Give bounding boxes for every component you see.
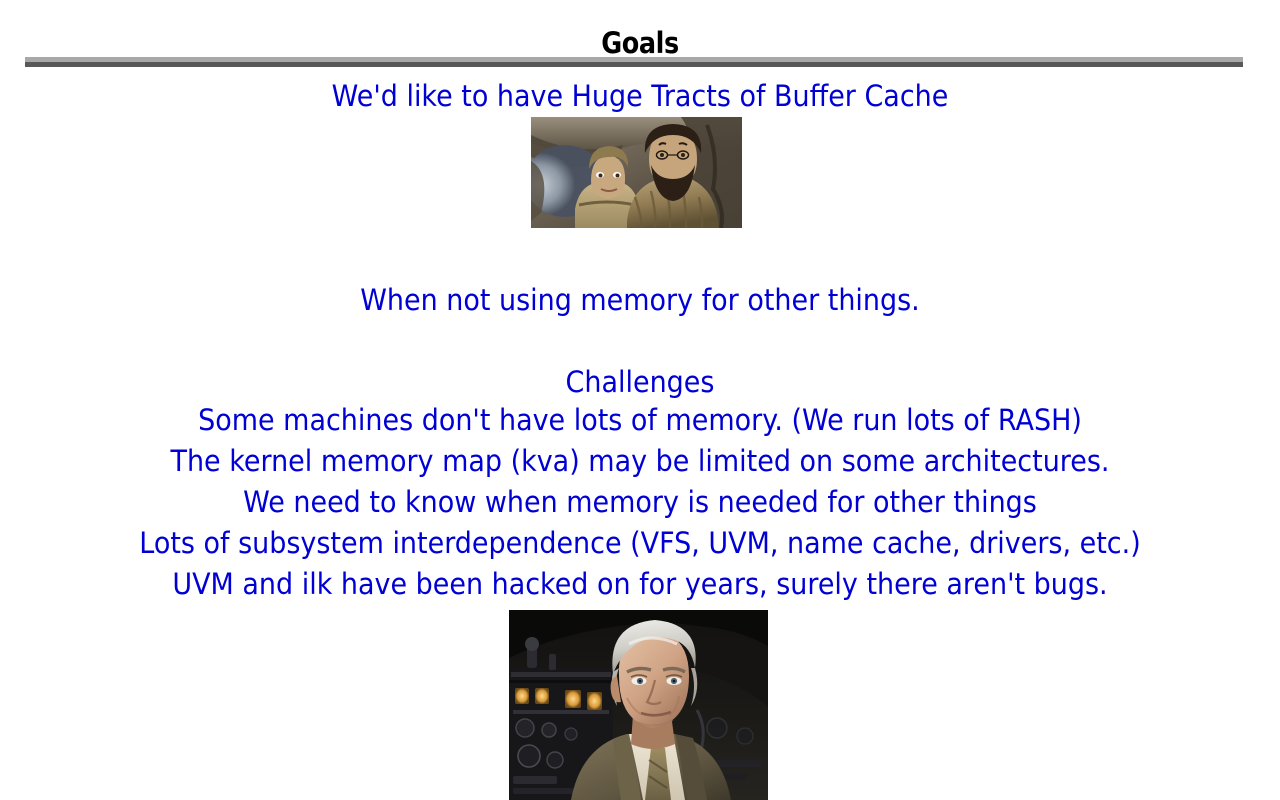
- divider-dark-band: [25, 62, 1243, 67]
- when-condition-statement: When not using memory for other things.: [45, 283, 1235, 317]
- challenge-item: Lots of subsystem interdependence (VFS, …: [45, 526, 1235, 560]
- challenges-heading: Challenges: [45, 365, 1235, 399]
- airplane-movie-cockpit-photo: [509, 610, 768, 800]
- page-title: Goals: [77, 26, 1203, 60]
- monty-python-cave-scene-photo: [531, 117, 742, 228]
- title-divider: [25, 57, 1243, 67]
- challenge-item: Some machines don't have lots of memory.…: [45, 403, 1235, 437]
- goal-statement: We'd like to have Huge Tracts of Buffer …: [45, 79, 1235, 113]
- challenge-item: We need to know when memory is needed fo…: [45, 485, 1235, 519]
- challenge-item: UVM and ilk have been hacked on for year…: [45, 567, 1235, 601]
- challenge-item: The kernel memory map (kva) may be limit…: [45, 444, 1235, 478]
